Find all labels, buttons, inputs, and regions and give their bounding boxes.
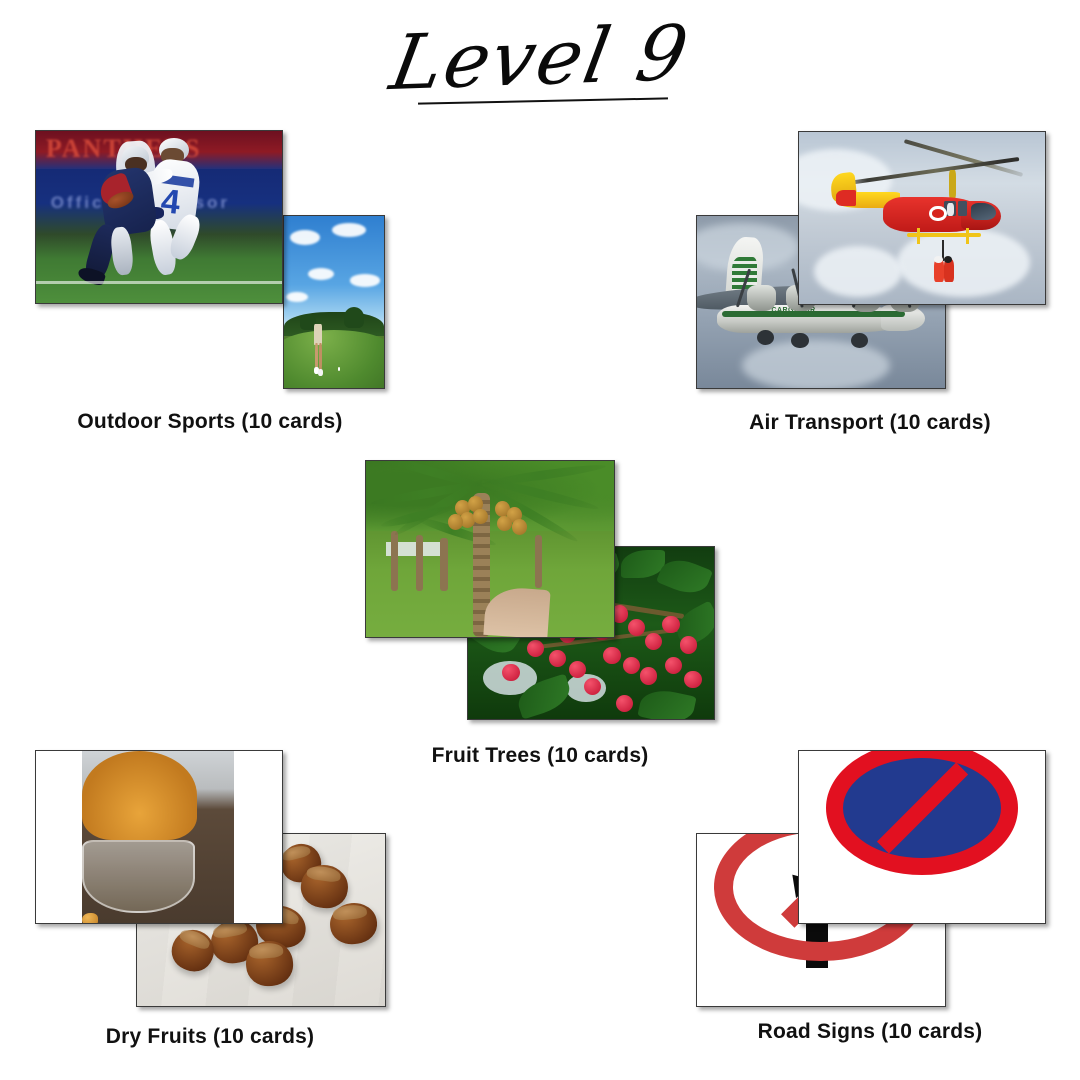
photo-golden-raisins (36, 751, 282, 923)
group-dry-fruits: Dry Fruits (10 cards) (0, 740, 420, 1060)
photo-rescue-helicopter (799, 132, 1045, 304)
photo-coconut-palm (366, 461, 614, 637)
group-label-road-signs: Road Signs (10 cards) (660, 1020, 1080, 1044)
group-road-signs: Road Signs (10 cards) (660, 740, 1080, 1060)
card-fruit-trees-front[interactable] (365, 460, 615, 638)
page-title-text: Level 9 (385, 13, 695, 103)
card-outdoor-sports-back[interactable] (283, 215, 385, 389)
no-parking-disc (826, 751, 1018, 875)
no-parking-slash (877, 762, 968, 853)
card-air-transport-front[interactable] (798, 131, 1046, 305)
photo-golf-course (284, 216, 384, 388)
group-air-transport: CARGO AIR (660, 0, 1080, 440)
card-road-signs-front[interactable] (798, 750, 1046, 924)
group-fruit-trees: Fruit Trees (10 cards) (330, 450, 750, 780)
card-dry-fruits-front[interactable] (35, 750, 283, 924)
group-label-air-transport: Air Transport (10 cards) (660, 411, 1080, 435)
photo-no-parking-sign (799, 751, 1045, 923)
photo-american-football: PANTHERS Official Sponsor 4 (36, 131, 282, 303)
group-label-dry-fruits: Dry Fruits (10 cards) (0, 1025, 420, 1049)
card-outdoor-sports-front[interactable]: PANTHERS Official Sponsor 4 (35, 130, 283, 304)
group-label-outdoor-sports: Outdoor Sports (10 cards) (0, 410, 420, 434)
group-outdoor-sports: PANTHERS Official Sponsor 4 Outdoor Spor… (0, 0, 420, 440)
